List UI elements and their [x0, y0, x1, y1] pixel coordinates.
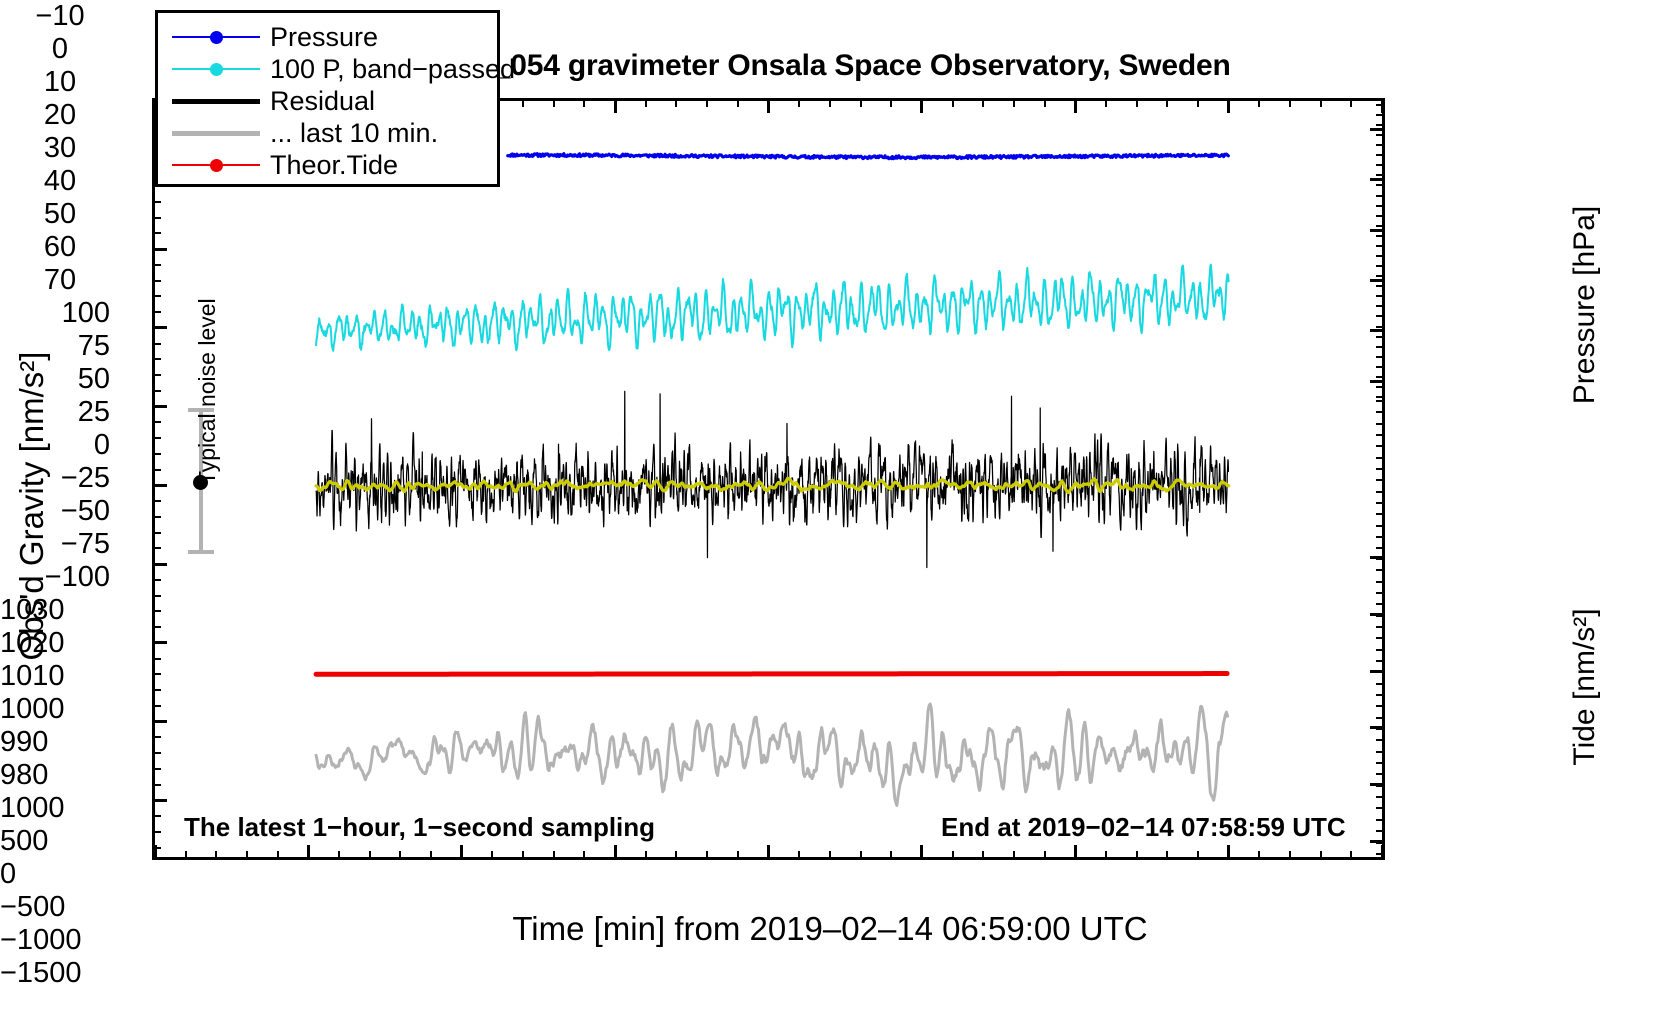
- y-tick-major-left: [152, 484, 167, 487]
- x-tick-major: [307, 845, 310, 860]
- x-tick-minor: [798, 851, 800, 860]
- y-tick-minor-left: [152, 201, 161, 203]
- y-tick-minor-pressure: [1376, 144, 1385, 146]
- legend-item-label: Residual: [260, 86, 375, 117]
- legend: Pressure100 P, band−passedResidual... la…: [155, 10, 500, 187]
- x-tick-minor: [399, 851, 401, 860]
- y-tick-minor-tide: [1376, 558, 1385, 560]
- legend-item[interactable]: 100 P, band−passed: [158, 53, 497, 85]
- y-tick-minor-left: [152, 453, 161, 455]
- noise-level-label: Typical noise level: [194, 245, 221, 485]
- y-tick-minor-pressure: [1376, 376, 1385, 378]
- y-tick-minor-pressure: [1376, 195, 1385, 197]
- y-tick-minor-right: [1376, 423, 1385, 425]
- y-tick-minor-left: [152, 831, 161, 833]
- x-tick-major-top: [920, 98, 923, 113]
- y-tick-minor-left: [152, 217, 161, 219]
- y-tick-minor-tide: [1376, 830, 1385, 832]
- y-tick-minor-tide: [1376, 649, 1385, 651]
- legend-item[interactable]: Residual: [158, 85, 497, 117]
- x-tick-minor: [1013, 851, 1015, 860]
- y-tick-label-pressure: 980: [0, 759, 120, 792]
- chart-canvas: SCG_054 gravimeter Onsala Space Observat…: [0, 0, 1660, 1020]
- x-tick-label: 60: [0, 231, 120, 264]
- x-tick-minor: [369, 851, 371, 860]
- x-tick-minor: [522, 851, 524, 860]
- y-tick-minor-right: [1376, 468, 1385, 470]
- y-tick-label-tide: 0: [0, 858, 120, 891]
- y-tick-label-tide: 500: [0, 825, 120, 858]
- legend-item-label: Theor.Tide: [260, 150, 398, 181]
- y-tick-minor-left: [152, 547, 161, 549]
- y-tick-minor-right: [1376, 513, 1385, 515]
- typical-noise-level-annotation: Typical noise level: [180, 400, 240, 600]
- y-tick-minor-pressure: [1376, 315, 1385, 317]
- legend-marker-icon: [210, 31, 223, 44]
- legend-item[interactable]: ... last 10 min.: [158, 117, 497, 149]
- x-tick-major-top: [614, 98, 617, 113]
- x-tick-minor: [706, 851, 708, 860]
- y-tick-minor-left: [152, 752, 161, 754]
- y-tick-minor-tide: [1376, 728, 1385, 730]
- x-tick-minor-top: [706, 98, 708, 107]
- legend-line-icon: [172, 99, 260, 104]
- x-tick-minor-top: [1166, 98, 1168, 107]
- x-tick-minor: [246, 851, 248, 860]
- y-tick-minor-tide: [1376, 853, 1385, 855]
- x-tick-minor: [583, 851, 585, 860]
- y-tick-minor-pressure: [1376, 205, 1385, 207]
- y-tick-minor-tide: [1376, 637, 1385, 639]
- y-tick-minor-left: [152, 232, 161, 234]
- y-tick-minor-left: [152, 784, 161, 786]
- x-tick-minor-top: [952, 98, 954, 107]
- x-tick-minor: [829, 851, 831, 860]
- x-tick-major-top: [1227, 98, 1230, 113]
- y-tick-minor-left: [152, 736, 161, 738]
- x-tick-major-top: [767, 98, 770, 113]
- x-tick-minor: [553, 851, 555, 860]
- y-tick-minor-pressure: [1376, 265, 1385, 267]
- x-tick-major-top: [1074, 98, 1077, 113]
- x-tick-minor: [277, 851, 279, 860]
- legend-item[interactable]: Theor.Tide: [158, 149, 497, 181]
- x-tick-minor: [952, 851, 954, 860]
- y-tick-label-tide: 1000: [0, 792, 120, 825]
- x-tick-minor-top: [553, 98, 555, 107]
- legend-swatch-icon: [172, 122, 260, 144]
- y-tick-major-left: [152, 405, 167, 408]
- y-tick-minor-pressure: [1376, 174, 1385, 176]
- x-tick-minor: [860, 851, 862, 860]
- x-tick-minor: [430, 851, 432, 860]
- y-axis-title-left: Obs'd Gravity [nm/s²]: [13, 296, 51, 716]
- x-tick-minor-top: [982, 98, 984, 107]
- y-tick-minor-right: [1376, 479, 1385, 481]
- x-tick-minor-top: [522, 98, 524, 107]
- x-tick-minor: [338, 851, 340, 860]
- x-tick-minor: [1166, 851, 1168, 860]
- y-tick-minor-pressure: [1376, 184, 1385, 186]
- y-tick-minor-left: [152, 610, 161, 612]
- x-tick-minor-top: [860, 98, 862, 107]
- y-tick-major-pressure: [1370, 229, 1385, 232]
- y-tick-minor-pressure: [1376, 275, 1385, 277]
- legend-marker-icon: [210, 159, 223, 172]
- x-tick-minor: [1320, 851, 1322, 860]
- legend-swatch-icon: [172, 58, 260, 80]
- y-tick-minor-tide: [1376, 705, 1385, 707]
- y-tick-minor-tide: [1376, 807, 1385, 809]
- y-tick-minor-pressure: [1376, 124, 1385, 126]
- y-tick-minor-right: [1376, 502, 1385, 504]
- x-tick-minor-top: [1350, 98, 1352, 107]
- y-tick-label-pressure: 990: [0, 726, 120, 759]
- x-tick-minor-top: [890, 98, 892, 107]
- y-tick-minor-tide: [1376, 615, 1385, 617]
- y-tick-major-left: [152, 248, 167, 251]
- x-tick-major: [1227, 845, 1230, 860]
- y-tick-minor-right: [1376, 536, 1385, 538]
- legend-line-icon: [172, 131, 260, 136]
- x-tick-major: [460, 845, 463, 860]
- y-tick-minor-tide: [1376, 592, 1385, 594]
- y-tick-minor-left: [152, 311, 161, 313]
- x-tick-major: [767, 845, 770, 860]
- y-tick-major-left: [152, 720, 167, 723]
- y-tick-minor-tide: [1376, 569, 1385, 571]
- y-tick-minor-left: [152, 579, 161, 581]
- x-tick-minor: [1044, 851, 1046, 860]
- y-tick-minor-pressure: [1376, 336, 1385, 338]
- y-tick-minor-tide: [1376, 751, 1385, 753]
- x-tick-minor-top: [1320, 98, 1322, 107]
- x-tick-minor-top: [1136, 98, 1138, 107]
- y-tick-major-left: [152, 641, 167, 644]
- y-tick-minor-right: [1376, 411, 1385, 413]
- y-tick-minor-pressure: [1376, 255, 1385, 257]
- x-tick-label: 70: [0, 264, 120, 297]
- x-tick-minor: [675, 851, 677, 860]
- y-tick-minor-tide: [1376, 694, 1385, 696]
- y-tick-minor-pressure: [1376, 104, 1385, 106]
- y-tick-major-pressure: [1370, 329, 1385, 332]
- x-tick-major: [614, 845, 617, 860]
- y-tick-minor-pressure: [1376, 164, 1385, 166]
- y-tick-minor-right: [1376, 547, 1385, 549]
- y-tick-major-left: [152, 799, 167, 802]
- legend-item-label: 100 P, band−passed: [260, 54, 515, 85]
- y-tick-minor-left: [152, 595, 161, 597]
- x-tick-minor: [737, 851, 739, 860]
- y-tick-minor-pressure: [1376, 305, 1385, 307]
- y-tick-minor-right: [1376, 525, 1385, 527]
- legend-item-label: Pressure: [260, 22, 378, 53]
- y-tick-minor-pressure: [1376, 396, 1385, 398]
- x-tick-minor-top: [737, 98, 739, 107]
- x-tick-minor: [185, 851, 187, 860]
- y-tick-minor-left: [152, 500, 161, 502]
- y-tick-minor-tide: [1376, 717, 1385, 719]
- y-tick-minor-tide: [1376, 603, 1385, 605]
- y-tick-minor-left: [152, 469, 161, 471]
- y-tick-minor-left: [152, 264, 161, 266]
- y-tick-minor-right: [1376, 400, 1385, 402]
- y-tick-major-left: [152, 326, 167, 329]
- y-tick-minor-pressure: [1376, 366, 1385, 368]
- x-tick-minor: [1197, 851, 1199, 860]
- x-tick-minor-top: [1105, 98, 1107, 107]
- x-tick-label: 50: [0, 198, 120, 231]
- y-tick-major-pressure: [1370, 279, 1385, 282]
- y-tick-minor-tide: [1376, 842, 1385, 844]
- y-tick-minor-left: [152, 532, 161, 534]
- y-tick-minor-pressure: [1376, 114, 1385, 116]
- y-tick-minor-left: [152, 626, 161, 628]
- footnote-end-time: End at 2019−02−14 07:58:59 UTC: [941, 812, 1346, 843]
- x-tick-label: 10: [0, 66, 120, 99]
- x-tick-minor-top: [798, 98, 800, 107]
- x-tick-major: [920, 845, 923, 860]
- x-tick-minor: [982, 851, 984, 860]
- y-tick-minor-left: [152, 689, 161, 691]
- x-tick-label: 0: [0, 33, 120, 66]
- y-tick-minor-tide: [1376, 796, 1385, 798]
- y-tick-minor-left: [152, 280, 161, 282]
- x-tick-minor-top: [1289, 98, 1291, 107]
- legend-swatch-icon: [172, 26, 260, 48]
- y-tick-minor-left: [152, 421, 161, 423]
- x-tick-minor-top: [1044, 98, 1046, 107]
- x-tick-minor-top: [829, 98, 831, 107]
- x-tick-minor: [215, 851, 217, 860]
- y-tick-minor-left: [152, 705, 161, 707]
- x-tick-minor: [1289, 851, 1291, 860]
- x-tick-minor-top: [675, 98, 677, 107]
- y-tick-minor-pressure: [1376, 225, 1385, 227]
- x-tick-minor: [1350, 851, 1352, 860]
- y-tick-minor-pressure: [1376, 285, 1385, 287]
- x-tick-minor: [1136, 851, 1138, 860]
- x-tick-minor-top: [645, 98, 647, 107]
- y-tick-minor-pressure: [1376, 386, 1385, 388]
- x-axis-title: Time [min] from 2019–02–14 06:59:00 UTC: [0, 910, 1660, 948]
- x-tick-minor-top: [583, 98, 585, 107]
- y-tick-minor-tide: [1376, 819, 1385, 821]
- y-tick-major-left: [152, 563, 167, 566]
- y-tick-minor-left: [152, 343, 161, 345]
- y-tick-major-pressure: [1370, 380, 1385, 383]
- y-tick-minor-pressure: [1376, 235, 1385, 237]
- y-tick-minor-tide: [1376, 660, 1385, 662]
- y-tick-minor-right: [1376, 491, 1385, 493]
- y-tick-minor-left: [152, 658, 161, 660]
- y-tick-minor-tide: [1376, 671, 1385, 673]
- y-tick-minor-left: [152, 815, 161, 817]
- x-tick-major: [1074, 845, 1077, 860]
- y-tick-minor-left: [152, 847, 161, 849]
- legend-item-label: ... last 10 min.: [260, 118, 438, 149]
- x-tick-minor: [1105, 851, 1107, 860]
- y-tick-minor-left: [152, 358, 161, 360]
- footnote-sampling: The latest 1−hour, 1−second sampling: [184, 812, 655, 843]
- y-axis-title-pressure: Pressure [hPa]: [1568, 140, 1602, 470]
- y-tick-minor-tide: [1376, 739, 1385, 741]
- x-tick-label: 20: [0, 99, 120, 132]
- y-tick-minor-left: [152, 516, 161, 518]
- y-tick-minor-left: [152, 390, 161, 392]
- y-tick-minor-pressure: [1376, 356, 1385, 358]
- y-tick-major-pressure: [1370, 128, 1385, 131]
- y-tick-minor-left: [152, 437, 161, 439]
- y-tick-minor-left: [152, 768, 161, 770]
- y-tick-minor-left: [152, 295, 161, 297]
- x-tick-minor: [491, 851, 493, 860]
- y-tick-minor-pressure: [1376, 154, 1385, 156]
- y-tick-minor-right: [1376, 434, 1385, 436]
- y-tick-minor-left: [152, 374, 161, 376]
- legend-swatch-icon: [172, 90, 260, 112]
- x-tick-minor-top: [1258, 98, 1260, 107]
- x-tick-label: 30: [0, 132, 120, 165]
- y-tick-minor-right: [1376, 457, 1385, 459]
- x-tick-label: −10: [0, 0, 120, 33]
- y-tick-minor-pressure: [1376, 245, 1385, 247]
- x-tick-minor: [645, 851, 647, 860]
- x-tick-minor-top: [1197, 98, 1199, 107]
- legend-marker-icon: [210, 63, 223, 76]
- y-tick-minor-tide: [1376, 785, 1385, 787]
- y-tick-minor-tide: [1376, 581, 1385, 583]
- y-tick-minor-tide: [1376, 683, 1385, 685]
- y-tick-minor-left: [152, 673, 161, 675]
- noise-errorbar-cap-bottom: [188, 550, 214, 554]
- y-tick-minor-pressure: [1376, 346, 1385, 348]
- x-tick-label: 40: [0, 165, 120, 198]
- y-tick-minor-pressure: [1376, 134, 1385, 136]
- y-tick-major-pressure: [1370, 178, 1385, 181]
- x-tick-minor-top: [1013, 98, 1015, 107]
- y-tick-minor-pressure: [1376, 295, 1385, 297]
- y-tick-minor-tide: [1376, 773, 1385, 775]
- x-tick-minor: [1258, 851, 1260, 860]
- y-tick-minor-right: [1376, 445, 1385, 447]
- y-tick-minor-pressure: [1376, 326, 1385, 328]
- y-tick-label-tide: −1500: [0, 957, 120, 990]
- y-tick-minor-tide: [1376, 762, 1385, 764]
- x-tick-minor: [890, 851, 892, 860]
- y-axis-title-tide: Tide [nm/s²]: [1568, 542, 1602, 832]
- y-tick-minor-pressure: [1376, 215, 1385, 217]
- legend-item[interactable]: Pressure: [158, 21, 497, 53]
- legend-swatch-icon: [172, 154, 260, 176]
- y-tick-minor-tide: [1376, 626, 1385, 628]
